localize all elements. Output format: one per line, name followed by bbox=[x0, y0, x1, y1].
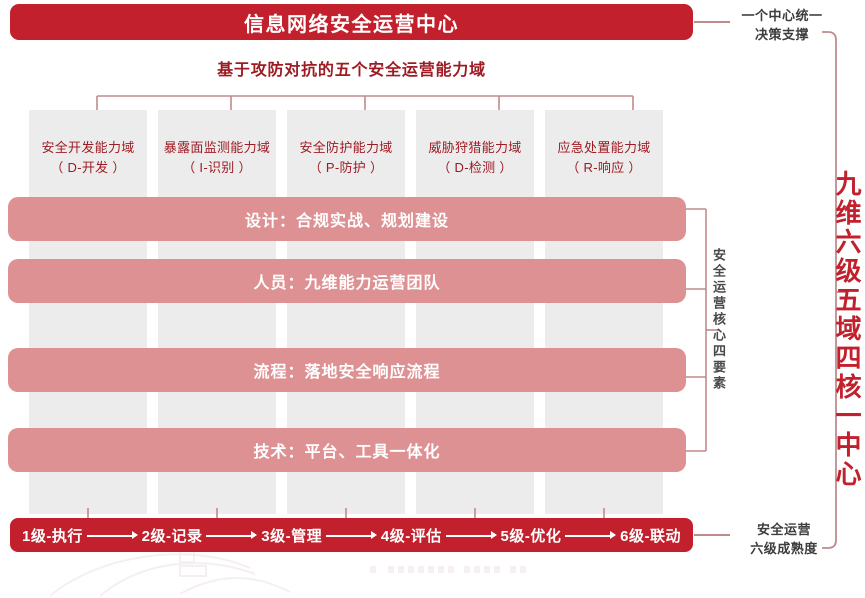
maturity-arrow-5 bbox=[565, 529, 616, 541]
core-element-label-process: 流程：落地安全响应流程 bbox=[253, 358, 440, 382]
maturity-level-6: 6级-联动 bbox=[620, 525, 681, 546]
annotation-maturity-line2: 六级成熟度 bbox=[736, 539, 832, 558]
maturity-level-2: 2级-记录 bbox=[142, 525, 203, 546]
title-connector-line bbox=[694, 21, 730, 23]
capability-column-3-name: 威胁狩猎能力域 bbox=[428, 140, 521, 155]
annotation-maturity: 安全运营 六级成熟度 bbox=[736, 520, 832, 558]
soc-title-text: 信息网络安全运营中心 bbox=[244, 8, 459, 37]
capability-column-4-name: 应急处置能力域 bbox=[557, 140, 650, 155]
capability-column-1-header: 暴露面监测能力域 （ I-识别 ） bbox=[158, 138, 276, 178]
capability-column-4-header: 应急处置能力域 （ R-响应 ） bbox=[545, 138, 663, 178]
core-element-label-design: 设计：合规实战、规划建设 bbox=[245, 207, 449, 231]
soc-title-bar: 信息网络安全运营中心 bbox=[10, 4, 693, 40]
page-subtitle: 基于攻防对抗的五个安全运营能力域 bbox=[10, 56, 693, 80]
capability-column-0-code: （ D-开发 ） bbox=[29, 158, 147, 178]
maturity-arrow-3 bbox=[326, 529, 377, 541]
core-element-bar-design[interactable]: 设计：合规实战、规划建设 bbox=[8, 197, 686, 241]
watermark bbox=[40, 548, 600, 598]
maturity-level-4: 4级-评估 bbox=[381, 525, 442, 546]
capability-column-2-name: 安全防护能力域 bbox=[299, 140, 392, 155]
maturity-arrow-1 bbox=[87, 529, 138, 541]
capability-column-1-code: （ I-识别 ） bbox=[158, 158, 276, 178]
maturity-arrow-2 bbox=[206, 529, 257, 541]
capability-column-2-header: 安全防护能力域 （ P-防护 ） bbox=[287, 138, 405, 178]
maturity-level-5: 5级-优化 bbox=[501, 525, 562, 546]
core-element-bar-process[interactable]: 流程：落地安全响应流程 bbox=[8, 348, 686, 392]
maturity-connector-line bbox=[694, 534, 730, 536]
core-element-bar-technology[interactable]: 技术：平台、工具一体化 bbox=[8, 428, 686, 472]
maturity-level-1: 1级-执行 bbox=[22, 525, 83, 546]
capability-column-2-code: （ P-防护 ） bbox=[287, 158, 405, 178]
maturity-level-bar[interactable]: 1级-执行 2级-记录 3级-管理 4级-评估 5级-优化 6级-联动 bbox=[10, 518, 693, 552]
core-element-label-people: 人员：九维能力运营团队 bbox=[253, 269, 440, 293]
annotation-maturity-line1: 安全运营 bbox=[757, 522, 811, 537]
annotation-one-center-line1: 一个中心统一 bbox=[741, 8, 822, 23]
capability-column-1-name: 暴露面监测能力域 bbox=[164, 140, 270, 155]
maturity-level-3: 3级-管理 bbox=[261, 525, 322, 546]
capability-column-3-code: （ D-检测 ） bbox=[416, 158, 534, 178]
slogan-vertical-text: 九维六级五域四核一中心 bbox=[828, 170, 862, 489]
annotation-one-center-line2: 决策支撑 bbox=[736, 25, 828, 44]
maturity-arrow-4 bbox=[446, 529, 497, 541]
capability-bracket bbox=[95, 92, 635, 110]
core-element-label-technology: 技术：平台、工具一体化 bbox=[253, 438, 440, 462]
diagram-canvas: 信息网络安全运营中心 基于攻防对抗的五个安全运营能力域 安全开发能力域 （ D-… bbox=[0, 0, 865, 598]
capability-column-0-name: 安全开发能力域 bbox=[41, 140, 134, 155]
capability-column-3-header: 威胁狩猎能力域 （ D-检测 ） bbox=[416, 138, 534, 178]
core-elements-label: 安全运营核心四要素 bbox=[706, 248, 728, 392]
capability-column-0-header: 安全开发能力域 （ D-开发 ） bbox=[29, 138, 147, 178]
core-element-bar-people[interactable]: 人员：九维能力运营团队 bbox=[8, 259, 686, 303]
annotation-one-center: 一个中心统一 决策支撑 bbox=[736, 6, 828, 44]
capability-column-4-code: （ R-响应 ） bbox=[545, 158, 663, 178]
